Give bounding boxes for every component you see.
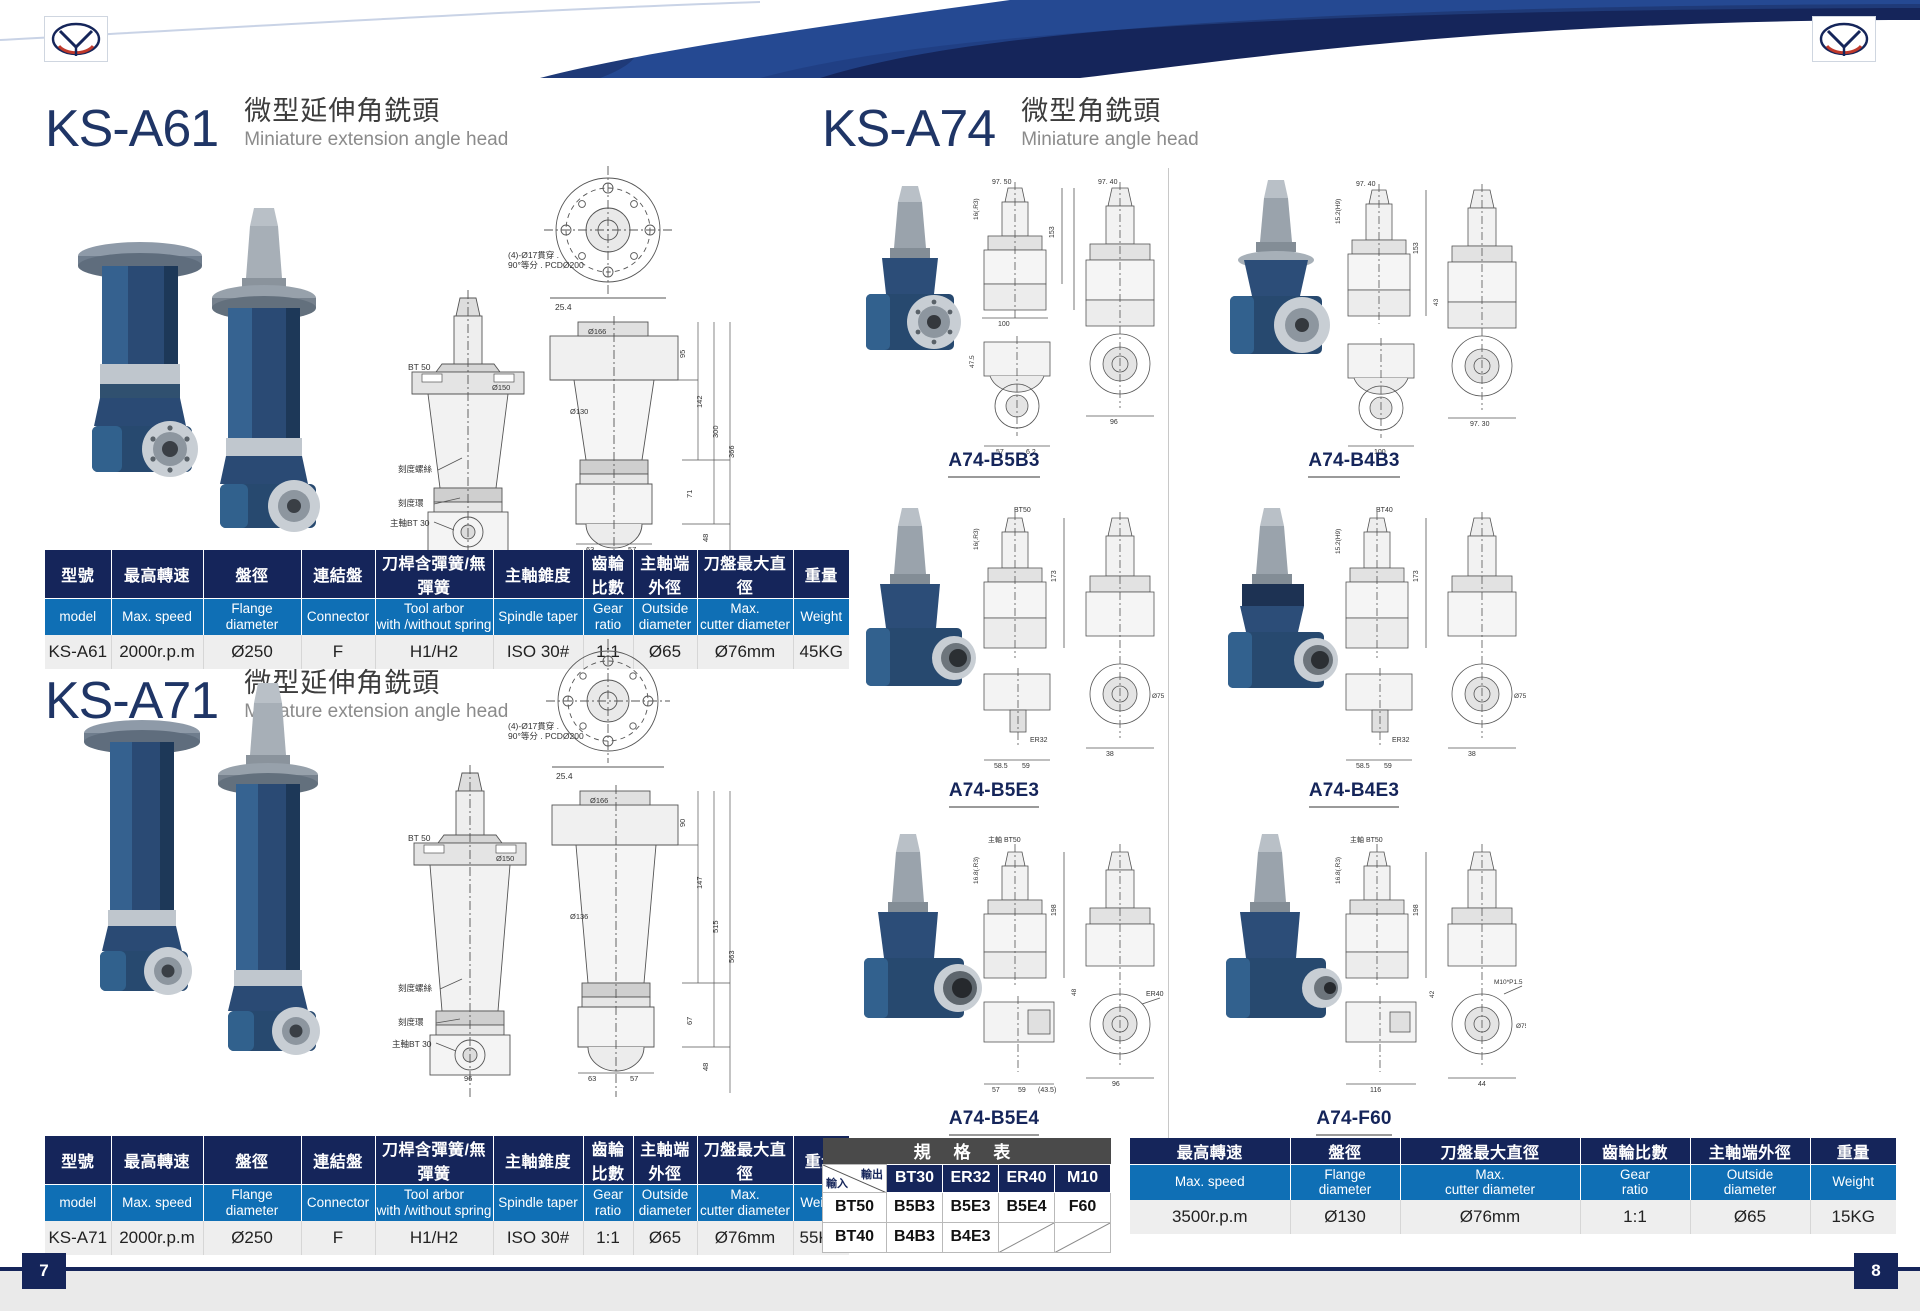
- variant-art-2: BT50 173 16(.R3) 58.5 59 ER32 38 Ø75: [822, 498, 1166, 798]
- spec-table-ks-a74: 最高轉速 盤徑 刀盤最大直徑 齒輪比數 主軸端外徑 重量 Max. speed …: [1130, 1138, 1896, 1234]
- drawing-note: (4)-Ø17貫穿 .: [508, 250, 559, 260]
- th-en: Weight: [1810, 1164, 1896, 1200]
- table-header-cn-row: 型號 最高轉速 盤徑 連結盤 刀桿含彈簧/無彈簧 主軸錐度 齒輪比數 主軸端外徑…: [45, 550, 849, 599]
- drawing-note: 96: [464, 1074, 472, 1083]
- variant-label: A74-B5B3: [948, 450, 1039, 478]
- drawing-note: 44: [1478, 1081, 1486, 1088]
- matrix-col-header: M10: [1055, 1164, 1111, 1192]
- drawing-note: 153: [1049, 226, 1056, 238]
- variant-label-row-3: A74-B4E3: [1182, 780, 1526, 808]
- drawing-note: 42: [1429, 990, 1436, 998]
- drawing-note: Ø75: [1516, 1023, 1526, 1030]
- left-page-column: KS-A61 微型延伸角銑頭 Miniature extension angle…: [0, 78, 800, 1238]
- th-cn: 盤徑: [203, 550, 301, 599]
- product-artwork-ks-a71: (4)-Ø17貫穿 . 90°等分 . PCDØ200 25.4 B: [30, 633, 770, 1103]
- drawing-note: 15.2(H9): [1335, 529, 1342, 554]
- drawing-variant: [1346, 512, 1426, 760]
- th-cn: 主軸端外徑: [1690, 1138, 1810, 1164]
- drawing-note: 563: [727, 950, 736, 963]
- drawing-note: 48: [701, 534, 710, 542]
- th-en: Flangediameter: [1290, 1164, 1400, 1200]
- drawing-note: 48: [1071, 988, 1078, 996]
- variant-art-5: 主軸 BT50 198 16.8(.R3) 116 42 44 M10*P1.5…: [1182, 826, 1526, 1126]
- drawing-note: 47.5: [969, 355, 976, 368]
- brand-logo-right: [1812, 16, 1876, 62]
- th-cn: 型號: [45, 1136, 111, 1185]
- drawing-flange-topview: [546, 639, 670, 767]
- drawing-note: 90°等分 . PCDØ200: [508, 731, 584, 741]
- th-cn: 最高轉速: [111, 1136, 203, 1185]
- drawing-note: 59: [1384, 763, 1392, 770]
- th-en: Connector: [301, 1185, 375, 1221]
- top-banner: [0, 0, 1920, 78]
- footer-bar: [0, 1271, 1920, 1311]
- photo-angle-head: [866, 508, 976, 686]
- variant-column-divider: [1168, 168, 1169, 1188]
- drawing-note: ER40: [1146, 991, 1164, 998]
- th-en: Max.cutter diameter: [697, 599, 793, 635]
- drawing-note: 主軸 BT50: [1350, 835, 1383, 844]
- drawing-note: BT 50: [408, 833, 431, 843]
- th-cn: 刀桿含彈簧/無彈簧: [375, 550, 493, 599]
- th-en: Flange diameter: [203, 1185, 301, 1221]
- th-en: Flange diameter: [203, 599, 301, 635]
- drawing-note: (43.5): [1038, 1087, 1056, 1094]
- photo-angle-head: [864, 834, 982, 1018]
- matrix-col-header: BT30: [887, 1164, 943, 1192]
- drawing-note: 366: [727, 445, 736, 458]
- drawing-note: Ø166: [588, 327, 606, 336]
- variant-label-row-2: A74-B5E3: [822, 780, 1166, 808]
- drawing-note: 100: [998, 321, 1010, 328]
- th-cn: 型號: [45, 550, 111, 599]
- drawing-flange-topview: [544, 166, 672, 298]
- drawing-note: 38: [1106, 751, 1114, 758]
- drawing-note: 刻度環: [398, 498, 424, 508]
- cell-max-cutter-diameter: Ø76mm: [1400, 1200, 1580, 1234]
- drawing-note: 25.4: [556, 771, 573, 781]
- matrix-col-header: ER32: [943, 1164, 999, 1192]
- cell-gear-ratio: 1:1: [1580, 1200, 1690, 1234]
- spec-matrix-table: 規 格 表 輸出 輸入 BT30 ER32 ER40 M10 BT50 B5B3…: [822, 1138, 1111, 1253]
- th-cn: 齒輪比數: [1580, 1138, 1690, 1164]
- drawing-note: 173: [1413, 570, 1420, 582]
- th-cn: 重量: [1810, 1138, 1896, 1164]
- drawing-note: 58.5: [1356, 763, 1370, 770]
- product-name-en: Miniature extension angle head: [244, 128, 508, 152]
- drawing-note: 142: [695, 395, 704, 408]
- drawing-note: 96: [1110, 419, 1118, 426]
- table-header-en-row: model Max. speed Flange diameter Connect…: [45, 1185, 849, 1221]
- matrix-col-header: ER40: [999, 1164, 1055, 1192]
- th-en: Max. speed: [111, 599, 203, 635]
- th-cn: 盤徑: [1290, 1138, 1400, 1164]
- matrix-corner-in: 輸入: [826, 1175, 848, 1191]
- drawing-note: 59: [1022, 763, 1030, 770]
- drawing-note: 153: [1413, 242, 1420, 254]
- drawing-note: 58.5: [994, 763, 1008, 770]
- th-en: Gearratio: [583, 599, 633, 635]
- th-en: model: [45, 1185, 111, 1221]
- drawing-note: 97. 30: [1470, 421, 1490, 428]
- drawing-note: 38: [1468, 751, 1476, 758]
- drawing-variant-2: [1086, 512, 1154, 748]
- variant-label: A74-B4B3: [1308, 450, 1399, 478]
- company-logo-icon: [50, 20, 102, 58]
- drawing-note: 147: [695, 876, 704, 889]
- product-name-cn: 微型角銑頭: [1021, 96, 1198, 128]
- drawing-note: 198: [1051, 904, 1058, 916]
- matrix-cell: B5B3: [887, 1192, 943, 1222]
- drawing-note: M10*P1.5: [1494, 979, 1523, 986]
- th-en: Max.cutter diameter: [697, 1185, 793, 1221]
- th-cn: 連結盤: [301, 1136, 375, 1185]
- th-en: model: [45, 599, 111, 635]
- th-en: Gearratio: [1580, 1164, 1690, 1200]
- th-cn: 連結盤: [301, 550, 375, 599]
- cell-weight: 15KG: [1810, 1200, 1896, 1234]
- matrix-cell: F60: [1055, 1192, 1111, 1222]
- th-en: Gearratio: [583, 1185, 633, 1221]
- drawing-note: 173: [1051, 570, 1058, 582]
- th-cn: 刀盤最大直徑: [697, 550, 793, 599]
- th-cn: 最高轉速: [111, 550, 203, 599]
- drawing-note: (4)-Ø17貫穿 .: [508, 721, 559, 731]
- drawing-note: 48: [701, 1063, 710, 1071]
- drawing-variant-2: [1086, 182, 1154, 416]
- th-en: Max. speed: [111, 1185, 203, 1221]
- th-cn: 刀盤最大直徑: [1400, 1138, 1580, 1164]
- page-footer: 7 8: [0, 1239, 1920, 1311]
- cell-flange-diameter: Ø130: [1290, 1200, 1400, 1234]
- drawing-note: 16(.R3): [973, 528, 980, 550]
- variant-label: A74-B4E3: [1309, 780, 1399, 808]
- drawing-note: 25.4: [555, 302, 572, 312]
- drawing-variant-2: [1448, 512, 1516, 748]
- variant-label: A74-B5E3: [949, 780, 1039, 808]
- th-en: Tool arborwith /without spring: [375, 1185, 493, 1221]
- th-en: Spindle taper: [493, 599, 583, 635]
- drawing-note: 16.8(.R3): [1335, 857, 1342, 884]
- table-header-cn-row: 型號 最高轉速 盤徑 連結盤 刀桿含彈簧/無彈簧 主軸錐度 齒輪比數 主軸端外徑…: [45, 1136, 849, 1185]
- th-en: Outsidediameter: [633, 599, 697, 635]
- variant-label-row-1: A74-B4B3: [1182, 450, 1526, 478]
- drawing-note: BT50: [1014, 507, 1031, 514]
- drawing-note: 67: [685, 1017, 694, 1025]
- drawing-note: 主軸BT 30: [390, 518, 430, 528]
- right-page-column: KS-A74 微型角銑頭 Miniature angle head: [800, 78, 1920, 1238]
- drawing-note: 15.2(H9): [1335, 199, 1342, 224]
- drawing-variant-2: [1086, 844, 1160, 1078]
- product-code: KS-A74: [822, 103, 995, 155]
- variant-label: A74-B5E4: [949, 1108, 1039, 1136]
- drawing-note: 97. 40: [1356, 181, 1376, 188]
- drawing-elevation-a61: [550, 316, 730, 556]
- drawing-note: Ø150: [496, 854, 514, 863]
- th-cn: 盤徑: [203, 1136, 301, 1185]
- drawing-note: 116: [1370, 1087, 1381, 1094]
- variant-art-4: 主軸 BT50 198 16.8(.R3) 57 59 (43.5) 96 ER…: [822, 826, 1166, 1126]
- variant-art-3: BT40 173 15.2(H9) 58.5 59 ER32 38 Ø75: [1182, 498, 1526, 798]
- drawing-note: 43: [1433, 298, 1440, 306]
- photo-unit-a71-1: [84, 720, 200, 995]
- table-header-cn-row: 最高轉速 盤徑 刀盤最大直徑 齒輪比數 主軸端外徑 重量: [1130, 1138, 1896, 1164]
- spec-table-ks-a71: 型號 最高轉速 盤徑 連結盤 刀桿含彈簧/無彈簧 主軸錐度 齒輪比數 主軸端外徑…: [45, 1136, 849, 1255]
- page-number-right: 8: [1854, 1253, 1898, 1289]
- photo-angle-head: [866, 186, 961, 350]
- photo-angle-head: [1228, 508, 1338, 688]
- product-heading-ks-a74: KS-A74 微型角銑頭 Miniature angle head: [822, 96, 1199, 155]
- drawing-note: 63: [588, 1074, 596, 1083]
- drawing-variant: [984, 512, 1064, 760]
- drawing-note: Ø75: [1514, 693, 1526, 700]
- th-en: Tool arborwith /without spring: [375, 599, 493, 635]
- drawing-variant-2: [1448, 844, 1522, 1078]
- drawing-note: ER32: [1030, 737, 1048, 744]
- brand-logo-left: [44, 16, 108, 62]
- drawing-note: BT40: [1376, 507, 1393, 514]
- drawing-elevation-a71: [552, 785, 730, 1097]
- drawing-note: 97. 50: [992, 179, 1012, 186]
- drawing-note: 57: [992, 1087, 1000, 1094]
- page-number-left: 7: [22, 1253, 66, 1289]
- drawing-note: 主軸BT 30: [392, 1039, 432, 1049]
- th-cn: 齒輪比數: [583, 1136, 633, 1185]
- th-cn: 最高轉速: [1130, 1138, 1290, 1164]
- product-code: KS-A61: [45, 103, 218, 155]
- product-heading-ks-a61: KS-A61 微型延伸角銑頭 Miniature extension angle…: [45, 96, 508, 155]
- drawing-note: 96: [1112, 1081, 1120, 1088]
- th-en: Connector: [301, 599, 375, 635]
- drawing-note: 主軸 BT50: [988, 835, 1021, 844]
- th-cn: 主軸端外徑: [633, 550, 697, 599]
- drawing-note: 90: [678, 819, 687, 827]
- drawing-variant: [982, 182, 1074, 318]
- th-cn: 主軸錐度: [493, 1136, 583, 1185]
- drawing-note: 71: [685, 490, 694, 498]
- drawing-variant: [984, 844, 1064, 1084]
- product-name-cn: 微型延伸角銑頭: [244, 96, 508, 128]
- th-cn: 刀盤最大直徑: [697, 1136, 793, 1185]
- drawing-note: 刻度環: [398, 1017, 424, 1027]
- th-en: Max. speed: [1130, 1164, 1290, 1200]
- drawing-note: Ø130: [570, 407, 588, 416]
- cell-max-speed: 3500r.p.m: [1130, 1200, 1290, 1234]
- matrix-title: 規 格 表: [823, 1138, 1111, 1164]
- drawing-note: 刻度螺絲: [398, 464, 433, 474]
- drawing-note: ER32: [1392, 737, 1410, 744]
- table-header-en-row: model Max. speed Flange diameter Connect…: [45, 599, 849, 635]
- drawing-note: 97. 40: [1098, 179, 1118, 186]
- matrix-title-row: 規 格 表: [823, 1138, 1111, 1164]
- variant-art-0: 97. 50 153 16(.R3) 100 57 6.2 47.5: [822, 168, 1166, 468]
- th-cn: 刀桿含彈簧/無彈簧: [375, 1136, 493, 1185]
- drawing-note: Ø150: [492, 383, 510, 392]
- drawing-note: 515: [711, 920, 720, 933]
- matrix-row-header: BT50: [823, 1192, 887, 1222]
- th-en: Outsidediameter: [633, 1185, 697, 1221]
- drawing-variant: [1346, 844, 1426, 1084]
- drawing-note: 16(.R3): [973, 198, 980, 220]
- th-cn: 主軸錐度: [493, 550, 583, 599]
- matrix-corner-out: 輸出: [861, 1166, 883, 1182]
- photo-unit-a61-2: [212, 208, 320, 532]
- th-en: Spindle taper: [493, 1185, 583, 1221]
- th-en: Outsidediameter: [1690, 1164, 1810, 1200]
- drawing-note: 57: [630, 1074, 638, 1083]
- drawing-note: 300: [711, 425, 720, 438]
- matrix-header-row: 輸出 輸入 BT30 ER32 ER40 M10: [823, 1164, 1111, 1192]
- table-row: 3500r.p.m Ø130 Ø76mm 1:1 Ø65 15KG: [1130, 1200, 1896, 1234]
- drawing-variant: [1348, 184, 1426, 446]
- drawing-note: 95: [678, 350, 687, 358]
- cell-outside-diameter: Ø65: [1690, 1200, 1810, 1234]
- drawing-note: Ø166: [590, 796, 608, 805]
- photo-unit-a71-2: [218, 683, 320, 1055]
- drawing-note: BT 50: [408, 362, 431, 372]
- variant-label-row-0: A74-B5B3: [822, 450, 1166, 478]
- variant-art-1: 15.2(H9) 153 100 97. 40 97. 30 43: [1182, 168, 1526, 468]
- photo-angle-head: [1230, 180, 1330, 354]
- th-en: Max.cutter diameter: [1400, 1164, 1580, 1200]
- drawing-note: 59: [1018, 1087, 1026, 1094]
- matrix-cell: B5E3: [943, 1192, 999, 1222]
- variant-label-row-4: A74-B5E4: [822, 1108, 1166, 1136]
- matrix-row: BT50 B5B3 B5E3 B5E4 F60: [823, 1192, 1111, 1222]
- photo-unit-a61-1: [78, 242, 202, 477]
- drawing-note: 90°等分 . PCDØ200: [508, 260, 584, 270]
- company-logo-icon: [1818, 20, 1870, 58]
- drawing-note: Ø75: [1152, 693, 1165, 700]
- th-cn: 主軸端外徑: [633, 1136, 697, 1185]
- th-cn: 齒輪比數: [583, 550, 633, 599]
- drawing-note: 刻度螺絲: [398, 983, 433, 993]
- variant-label-row-5: A74-F60: [1182, 1108, 1526, 1136]
- product-artwork-ks-a61: (4)-Ø17貫穿 . 90°等分 . PCDØ200 25.4: [30, 158, 770, 558]
- matrix-cell: B5E4: [999, 1192, 1055, 1222]
- drawing-note: Ø136: [570, 912, 588, 921]
- table-header-en-row: Max. speed Flangediameter Max.cutter dia…: [1130, 1164, 1896, 1200]
- photo-angle-head: [1226, 834, 1342, 1018]
- matrix-corner-cell: 輸出 輸入: [823, 1164, 887, 1192]
- drawing-variant-2: [1448, 184, 1516, 418]
- variant-label: A74-F60: [1316, 1108, 1391, 1136]
- product-name-en: Miniature angle head: [1021, 128, 1198, 152]
- drawing-note: 16.8(.R3): [973, 857, 980, 884]
- drawing-note: 198: [1413, 904, 1420, 916]
